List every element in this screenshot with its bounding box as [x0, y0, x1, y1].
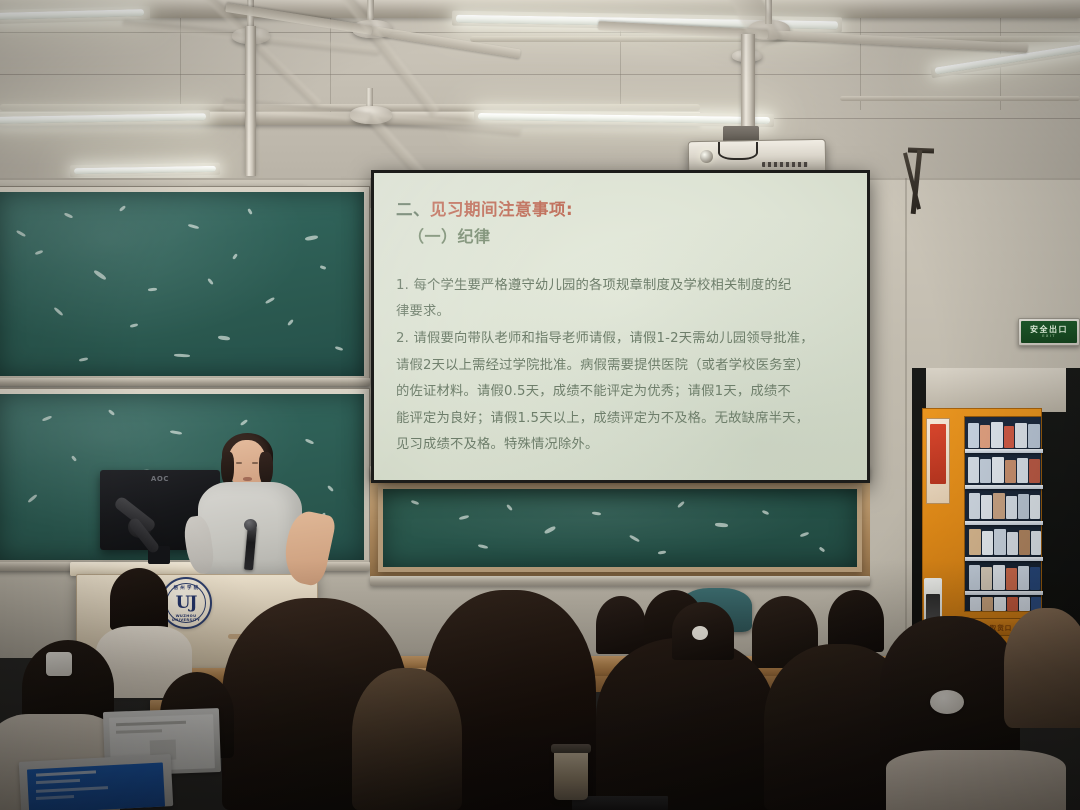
lecturer-eye-right	[252, 462, 258, 464]
slide-body-line: 2. 请假要向带队老师和指导老师请假，请假1-2天需幼儿园领导批准，	[396, 326, 845, 353]
hair-scrunchie	[930, 690, 964, 714]
vending-machine-window	[964, 416, 1042, 612]
poster-graphic	[930, 424, 946, 484]
exit-sign-label-cn: 安全出口	[1030, 326, 1068, 334]
audience-head	[596, 596, 646, 654]
tumbler-lid	[551, 744, 591, 753]
hair-tie	[692, 626, 708, 640]
chalk-ledge-center	[370, 576, 870, 586]
slide-title: 二、见习期间注意事项:	[396, 199, 845, 222]
chalkboard-surface	[0, 192, 364, 376]
hair-clip	[46, 652, 72, 676]
audience-head	[352, 668, 462, 810]
drink-tumbler	[554, 748, 588, 800]
lecturer-hair-right	[259, 452, 273, 486]
audience-head	[110, 568, 168, 630]
projection-screen: 二、见习期间注意事项: （一）纪律 1. 每个学生要严格遵守幼儿园的各项规章制度…	[371, 170, 870, 483]
emergency-exit-sign: 安全出口 EXIT	[1018, 318, 1080, 346]
slide-body-line: 能评定为良好；请假1.5天以上，成绩评定为不及格。无故缺席半天，	[396, 406, 845, 433]
audience-head	[596, 638, 776, 810]
lecturer-hair-left	[221, 452, 234, 486]
slide-body-line: 1. 每个学生要严格遵守幼儿园的各项规章制度及学校相关制度的纪	[396, 273, 845, 300]
lecturer-mouth	[243, 477, 252, 481]
slide-subtitle: （一）纪律	[408, 223, 845, 247]
projector-cable	[718, 142, 758, 160]
audience-head	[1004, 608, 1080, 728]
chalkboard-left-upper	[0, 186, 370, 382]
chalk-ledge-left-upper	[0, 378, 370, 386]
projector-lens	[700, 150, 713, 163]
seal-arc-top: 梧 州 学 院	[162, 585, 210, 591]
ceiling-support-pole	[245, 26, 256, 176]
slide-title-text: 见习期间注意事项:	[430, 200, 573, 219]
slide-title-number: 二、	[396, 200, 430, 219]
audience-head	[828, 590, 884, 652]
slide-body: 1. 每个学生要严格遵守幼儿园的各项规章制度及学校相关制度的纪 律要求。 2. …	[396, 273, 845, 459]
monitor-brand-label: AOC	[151, 475, 169, 483]
seal-arc-bottom: WUZHOU UNIVERSITY	[162, 614, 210, 622]
projector-vent	[762, 162, 808, 167]
exit-sign-label-en: EXIT	[1042, 335, 1056, 339]
classroom-scene: 二、见习期间注意事项: （一）纪律 1. 每个学生要严格遵守幼儿园的各项规章制度…	[0, 0, 1080, 810]
slide-body-line: 的佐证材料。请假0.5天，成绩不能评定为优秀；请假1天，成绩不	[396, 379, 845, 406]
slide-body-line: 请假2天以上需经过学院批准。病假需要提供医院（或者学校医务室）	[396, 353, 845, 380]
lecturer-eye-left	[236, 462, 242, 464]
presentation-slide: 二、见习期间注意事项: （一）纪律 1. 每个学生要严格遵守幼儿园的各项规章制度…	[374, 173, 867, 480]
doorway-transom	[926, 368, 1066, 412]
exit-sign-face: 安全出口 EXIT	[1021, 321, 1077, 343]
chalkboard-surface	[383, 489, 857, 567]
audience-torso	[886, 750, 1066, 810]
slide-body-line: 律要求。	[396, 299, 845, 326]
slide-body-line: 见习成绩不及格。特殊情况除外。	[396, 432, 845, 459]
chalkboard-center-lower	[378, 484, 862, 572]
projector-drop-pole	[741, 34, 755, 134]
